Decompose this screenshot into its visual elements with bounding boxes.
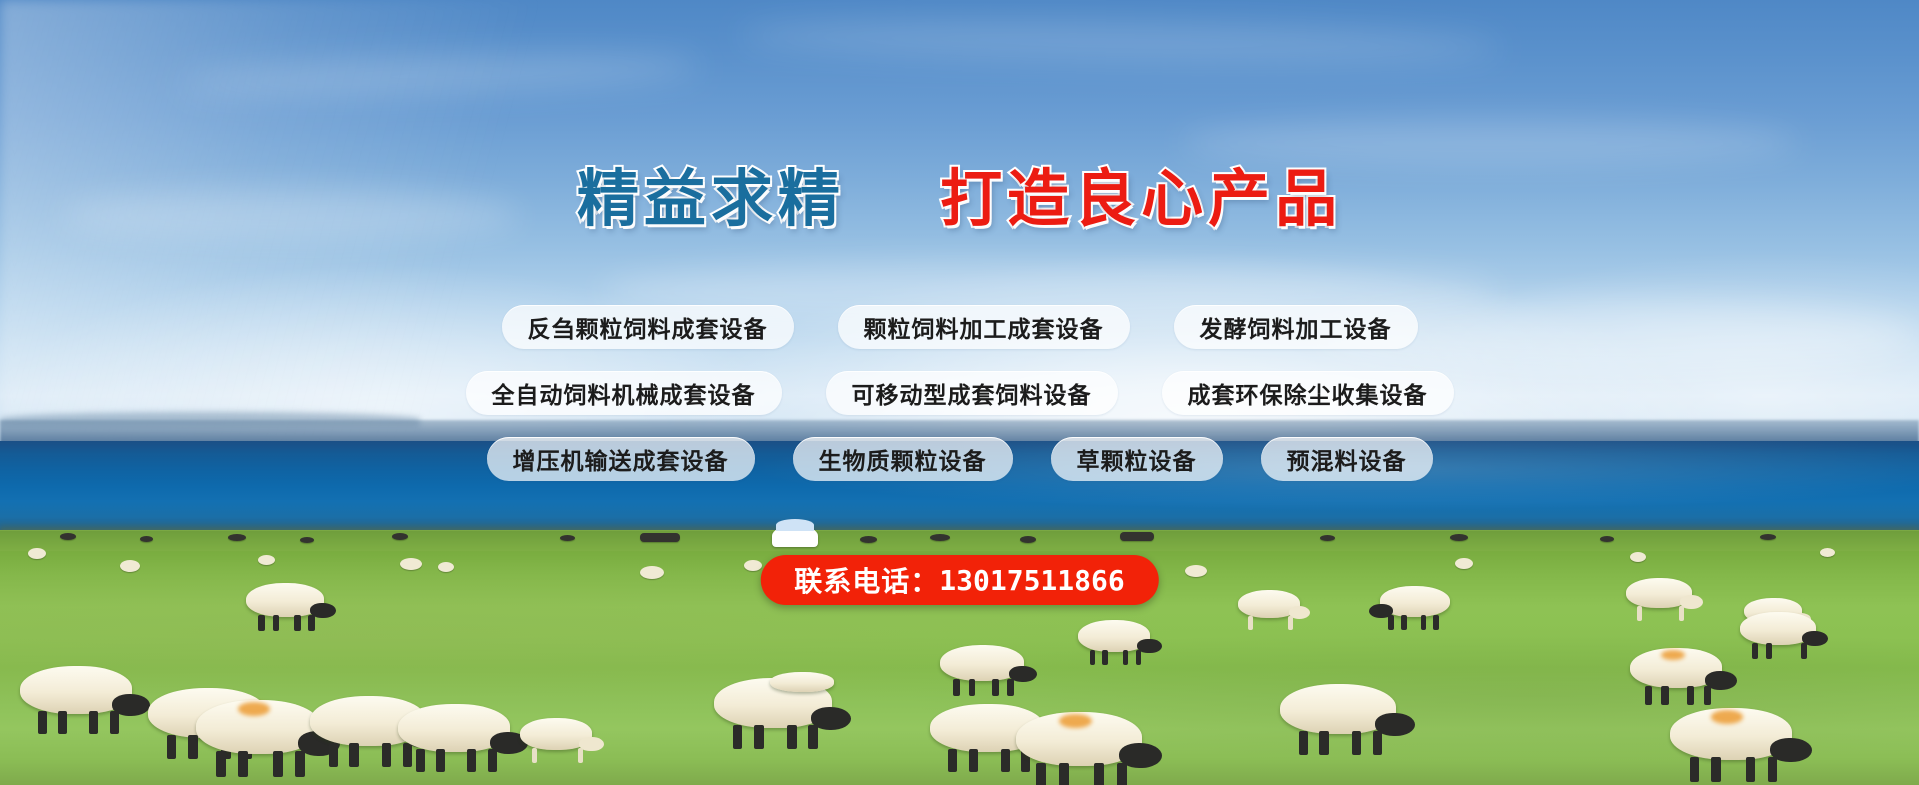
contact-phone-label: 联系电话：: [794, 560, 939, 600]
distant-animal: [392, 533, 408, 540]
cloud-streak: [1180, 120, 1800, 166]
sheep: [1380, 586, 1450, 617]
distant-animal: [1320, 535, 1335, 541]
category-pill-groups: 反刍颗粒饲料成套设备 颗粒饲料加工成套设备 发酵饲料加工设备 全自动饲料机械成套…: [0, 305, 1919, 503]
sheep-leg: [294, 615, 300, 631]
sheep-leg: [1373, 731, 1382, 755]
distant-animal: [1600, 536, 1614, 542]
sheep-leg: [1102, 650, 1108, 665]
distant-sheep: [1185, 565, 1207, 577]
sheep-leg: [1136, 650, 1142, 665]
sheep-leg: [1299, 731, 1308, 755]
sheep-leg: [1637, 606, 1642, 620]
pill-movable-complete-feed-equipment[interactable]: 可移动型成套饲料设备: [826, 371, 1118, 415]
sheep: [1016, 712, 1142, 766]
sheep-leg: [969, 749, 978, 772]
sheep-leg: [1094, 763, 1104, 785]
sheep: [246, 583, 324, 617]
sheep-leg: [58, 711, 67, 734]
distant-sheep: [1820, 548, 1835, 557]
sheep-leg: [258, 615, 264, 631]
sheep: [196, 700, 320, 754]
sheep-leg: [1746, 757, 1756, 782]
headline-red-text: 打造良心产品: [940, 168, 1342, 230]
sheep-leg: [1288, 616, 1293, 629]
pill-row-3: 增压机输送成套设备 生物质颗粒设备 草颗粒设备 预混料设备: [0, 437, 1919, 481]
sheep-leg: [416, 749, 425, 772]
sheep-leg: [382, 743, 391, 767]
pill-row-2: 全自动饲料机械成套设备 可移动型成套饲料设备 成套环保除尘收集设备: [0, 371, 1919, 415]
sheep-leg: [238, 751, 248, 777]
sheep-leg: [1123, 650, 1129, 665]
sheep-leg: [1704, 686, 1711, 705]
distant-sheep: [120, 560, 140, 572]
pill-grass-pellet-equipment[interactable]: 草颗粒设备: [1051, 437, 1223, 481]
sheep-leg: [787, 725, 796, 749]
sheep-leg: [436, 749, 445, 772]
sheep-leg: [948, 749, 957, 772]
distant-sheep: [400, 558, 422, 570]
pill-fermented-feed-processing-equipment[interactable]: 发酵饲料加工设备: [1174, 305, 1418, 349]
sheep-leg: [1001, 749, 1010, 772]
sheep-lamb: [770, 672, 834, 692]
distant-animal: [300, 537, 314, 543]
distant-sheep: [1630, 552, 1646, 562]
distant-animal: [1020, 536, 1036, 543]
sheep-leg: [488, 749, 497, 772]
distant-sheep: [744, 560, 762, 571]
sheep-leg: [733, 725, 742, 749]
sheep-leg: [1690, 757, 1700, 782]
distant-sheep: [438, 562, 454, 572]
pill-booster-conveying-complete-equipment[interactable]: 增压机输送成套设备: [487, 437, 755, 481]
distant-animal: [560, 535, 575, 541]
sheep: [1280, 684, 1396, 734]
sheep-leg: [1352, 731, 1361, 755]
distant-animal: [860, 536, 877, 543]
sheep-leg: [808, 725, 817, 749]
sheep: [940, 645, 1024, 681]
pill-fully-automatic-feed-machinery-complete-equipment[interactable]: 全自动饲料机械成套设备: [466, 371, 782, 415]
distant-sheep: [1455, 558, 1473, 569]
sheep-leg: [273, 615, 279, 631]
sheep-leg: [1388, 615, 1394, 630]
sheep-leg: [1036, 763, 1046, 785]
sheep-leg: [1059, 763, 1069, 785]
sheep-leg: [532, 748, 538, 763]
sheep: [1238, 590, 1300, 618]
sheep: [1626, 578, 1692, 608]
sheep: [20, 666, 132, 714]
distant-animal: [1450, 534, 1468, 541]
promo-banner: 精益求精 打造良心产品 反刍颗粒饲料成套设备 颗粒饲料加工成套设备 发酵饲料加工…: [0, 0, 1919, 785]
sheep-leg: [167, 735, 176, 759]
sheep-leg: [1007, 679, 1014, 696]
distant-sheep: [28, 548, 46, 559]
sheep-leg: [969, 679, 976, 696]
contact-phone-number: 13017511866: [939, 564, 1124, 597]
sheep-body: [770, 672, 834, 692]
distant-sheep: [258, 555, 275, 565]
headline: 精益求精 打造良心产品: [0, 168, 1919, 230]
distant-animal: [228, 534, 246, 541]
sheep-lamb: [520, 718, 592, 750]
distant-sheep: [640, 566, 664, 579]
yurt-tent: [772, 525, 818, 547]
shoreline-grass-band: [0, 531, 1919, 551]
sheep-leg: [1090, 650, 1096, 665]
sheep: [398, 704, 510, 752]
sheep-leg: [1768, 757, 1778, 782]
sheep-leg: [89, 711, 98, 734]
sheep-leg: [1766, 643, 1772, 659]
pill-premix-equipment[interactable]: 预混料设备: [1261, 437, 1433, 481]
sheep-leg: [1401, 615, 1407, 630]
pill-row-1: 反刍颗粒饲料成套设备 颗粒饲料加工成套设备 发酵饲料加工设备: [0, 305, 1919, 349]
sheep: [1740, 612, 1816, 645]
sheep-leg: [1661, 686, 1668, 705]
sheep-leg: [754, 725, 763, 749]
pill-biomass-pellet-equipment[interactable]: 生物质颗粒设备: [793, 437, 1013, 481]
sheep-leg: [1433, 615, 1439, 630]
sheep-leg: [1248, 616, 1253, 629]
sheep-leg: [329, 743, 338, 767]
sheep-leg: [1645, 686, 1652, 705]
sheep-leg: [1752, 643, 1758, 659]
sheep-leg: [467, 749, 476, 772]
distant-animal: [930, 534, 950, 541]
sheep-leg: [349, 743, 358, 767]
sheep-leg: [1687, 686, 1694, 705]
sheep-leg: [1421, 615, 1427, 630]
sheep-leg: [308, 615, 314, 631]
sheep-leg: [295, 751, 305, 777]
cloud-streak: [740, 15, 1501, 68]
sheep-leg: [273, 751, 283, 777]
pill-pellet-feed-processing-complete-equipment[interactable]: 颗粒饲料加工成套设备: [838, 305, 1130, 349]
sheep: [1630, 648, 1722, 688]
sheep: [1078, 620, 1150, 652]
sheep-leg: [1801, 643, 1807, 659]
sheep-leg: [992, 679, 999, 696]
distant-animal: [60, 533, 76, 540]
contact-phone-badge[interactable]: 联系电话：13017511866: [760, 555, 1158, 605]
distant-shed: [640, 533, 680, 542]
sheep-leg: [1711, 757, 1721, 782]
sheep-leg: [38, 711, 47, 734]
distant-animal: [1760, 534, 1776, 540]
pill-ruminant-pellet-feed-complete-equipment[interactable]: 反刍颗粒饲料成套设备: [502, 305, 794, 349]
sheep-leg: [216, 751, 226, 777]
headline-blue-text: 精益求精: [577, 168, 845, 230]
distant-shed: [1120, 532, 1154, 541]
distant-animal: [140, 536, 153, 542]
sheep: [1670, 708, 1792, 760]
sheep-leg: [1679, 606, 1684, 620]
sheep-leg: [953, 679, 960, 696]
sheep-leg: [1117, 763, 1127, 785]
sheep-leg: [110, 711, 119, 734]
sheep-leg: [1319, 731, 1328, 755]
sheep-leg: [578, 748, 584, 763]
pill-complete-environmental-dust-collection-equipment[interactable]: 成套环保除尘收集设备: [1162, 371, 1454, 415]
